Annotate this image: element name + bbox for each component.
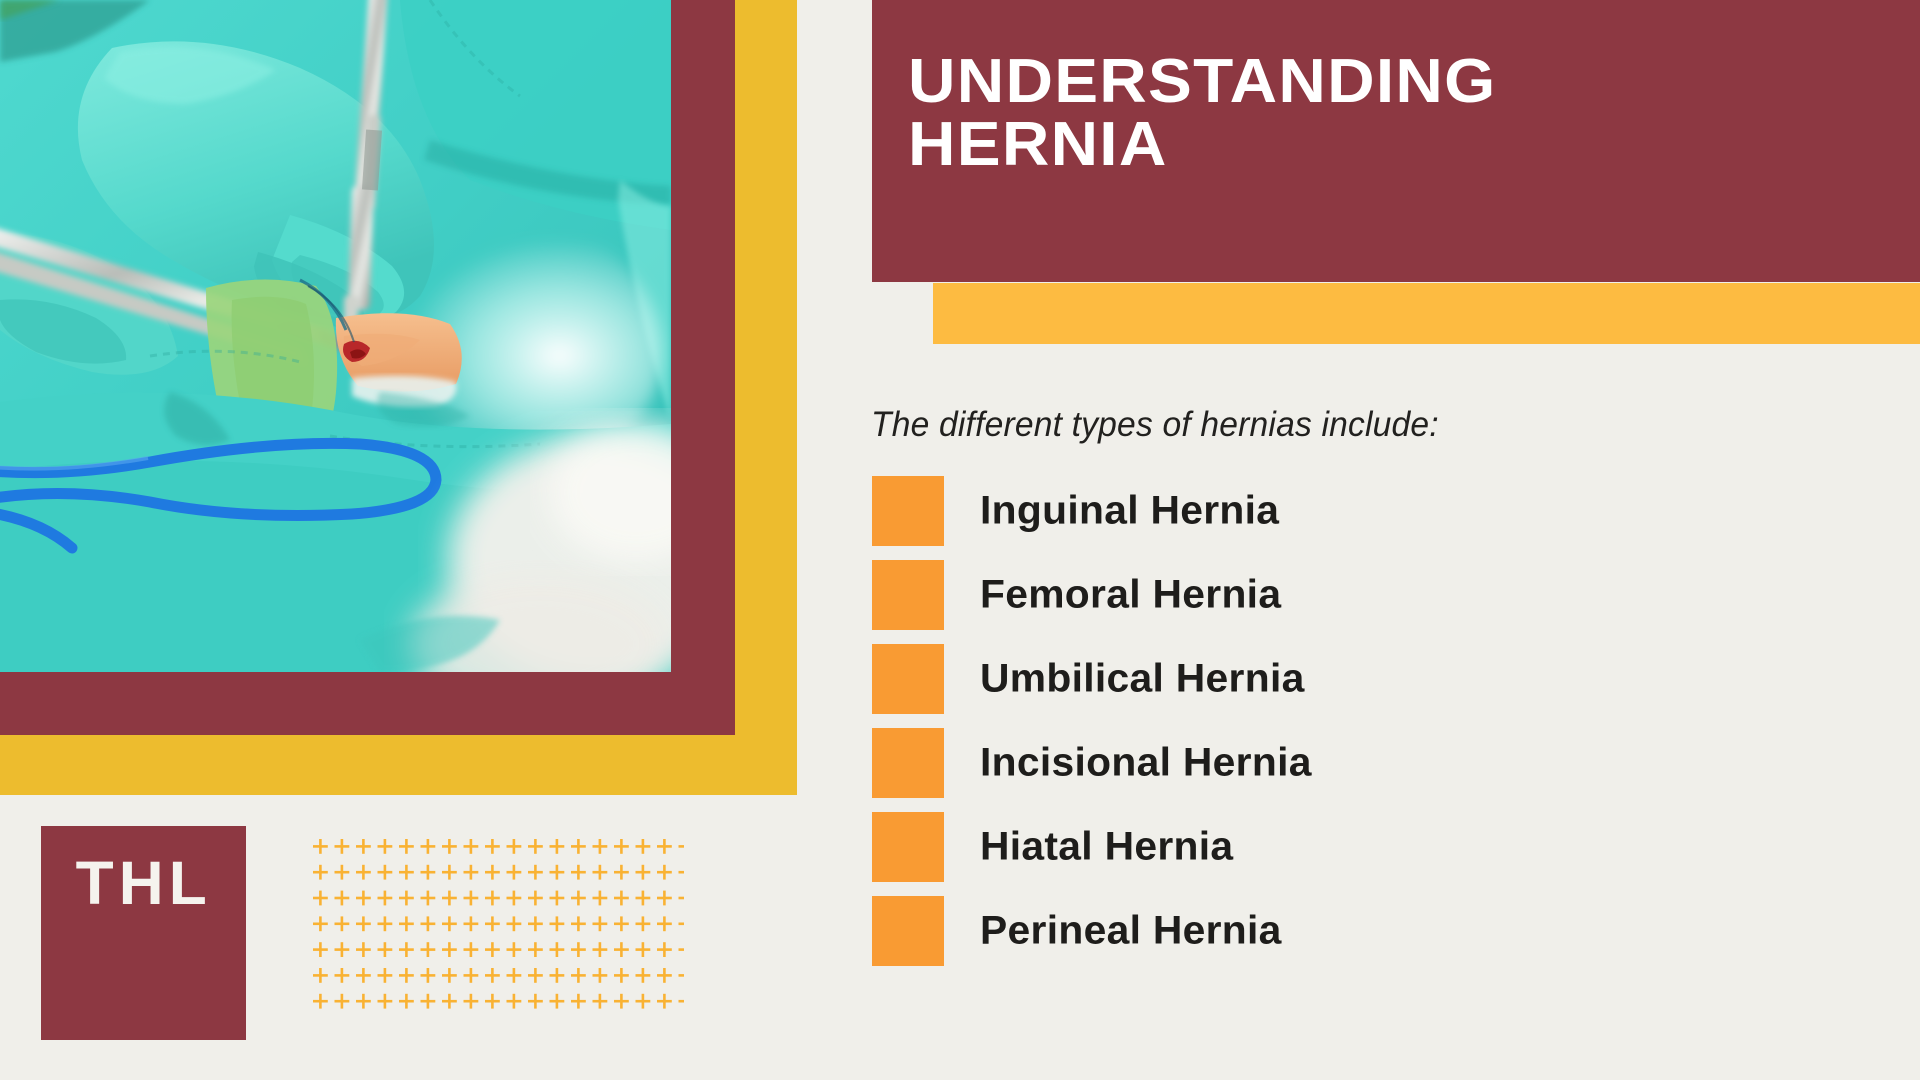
- plus-icon: [448, 891, 451, 906]
- plus-icon: [642, 865, 645, 880]
- plus-icon: [470, 994, 473, 1009]
- plus-icon: [556, 891, 559, 906]
- plus-icon: [577, 916, 580, 931]
- surgery-photo-illustration: [0, 0, 671, 672]
- hernia-list-item-label: Femoral Hernia: [980, 573, 1281, 618]
- plus-icon: [427, 942, 430, 957]
- bullet-square-icon: [872, 560, 944, 630]
- plus-icon: [491, 916, 494, 931]
- bullet-square-icon: [872, 644, 944, 714]
- hernia-list-item-label: Incisional Hernia: [980, 741, 1312, 786]
- plus-icon: [491, 839, 494, 854]
- hernia-list-item: Perineal Hernia: [872, 896, 1772, 966]
- plus-icon: [341, 968, 344, 983]
- plus-pattern-decoration: [312, 838, 684, 1010]
- plus-icon: [599, 916, 602, 931]
- bullet-square-icon: [872, 728, 944, 798]
- plus-icon: [405, 891, 408, 906]
- plus-icon: [679, 897, 685, 900]
- plus-icon: [620, 942, 623, 957]
- plus-icon: [663, 839, 666, 854]
- plus-icon: [491, 891, 494, 906]
- plus-icon: [341, 942, 344, 957]
- plus-icon: [577, 968, 580, 983]
- plus-icon: [384, 865, 387, 880]
- plus-icon: [663, 994, 666, 1009]
- plus-icon: [556, 942, 559, 957]
- hernia-types-list: Inguinal HerniaFemoral HerniaUmbilical H…: [872, 476, 1772, 980]
- plus-icon: [362, 942, 365, 957]
- plus-icon: [405, 942, 408, 957]
- bullet-square-icon: [872, 812, 944, 882]
- plus-icon: [556, 865, 559, 880]
- plus-icon: [491, 865, 494, 880]
- plus-icon: [405, 968, 408, 983]
- thl-logo: THL: [41, 826, 246, 1040]
- hernia-list-item-label: Umbilical Hernia: [980, 657, 1305, 702]
- plus-icon: [513, 968, 516, 983]
- plus-icon: [427, 891, 430, 906]
- plus-icon: [427, 968, 430, 983]
- hernia-list-item-label: Perineal Hernia: [980, 909, 1282, 954]
- plus-icon: [577, 942, 580, 957]
- infographic-canvas: THL UNDERSTANDING HERNIA The different t…: [0, 0, 1920, 1080]
- plus-icon: [448, 839, 451, 854]
- plus-icon: [663, 865, 666, 880]
- plus-icon: [679, 974, 685, 977]
- plus-icon: [556, 839, 559, 854]
- plus-icon: [534, 865, 537, 880]
- plus-icon: [384, 968, 387, 983]
- bullet-square-icon: [872, 896, 944, 966]
- plus-icon: [534, 839, 537, 854]
- plus-icon: [448, 942, 451, 957]
- plus-icon: [341, 891, 344, 906]
- plus-icon: [448, 865, 451, 880]
- plus-icon: [427, 865, 430, 880]
- plus-icon: [599, 891, 602, 906]
- plus-icon: [362, 968, 365, 983]
- plus-icon: [599, 942, 602, 957]
- plus-icon: [405, 994, 408, 1009]
- plus-icon: [427, 916, 430, 931]
- plus-icon: [513, 891, 516, 906]
- plus-icon: [599, 839, 602, 854]
- plus-icon: [679, 845, 685, 848]
- hernia-list-item: Inguinal Hernia: [872, 476, 1772, 546]
- plus-icon: [642, 839, 645, 854]
- plus-icon: [577, 994, 580, 1009]
- plus-icon: [599, 968, 602, 983]
- plus-icon: [642, 994, 645, 1009]
- plus-icon: [513, 942, 516, 957]
- plus-icon: [620, 968, 623, 983]
- plus-icon: [470, 865, 473, 880]
- plus-icon: [491, 994, 494, 1009]
- plus-icon: [491, 942, 494, 957]
- hernia-list-item: Femoral Hernia: [872, 560, 1772, 630]
- plus-icon: [513, 994, 516, 1009]
- plus-icon: [663, 968, 666, 983]
- plus-icon: [642, 891, 645, 906]
- plus-icon: [341, 916, 344, 931]
- hernia-list-item: Hiatal Hernia: [872, 812, 1772, 882]
- plus-icon: [642, 916, 645, 931]
- plus-icon: [341, 994, 344, 1009]
- plus-icon: [620, 916, 623, 931]
- plus-icon: [362, 839, 365, 854]
- plus-icon: [319, 865, 322, 880]
- plus-icon: [384, 942, 387, 957]
- plus-icon: [642, 942, 645, 957]
- surgery-photo: [0, 0, 671, 672]
- plus-icon: [556, 968, 559, 983]
- plus-icon: [427, 839, 430, 854]
- plus-icon: [513, 865, 516, 880]
- plus-icon: [491, 968, 494, 983]
- plus-icon: [534, 942, 537, 957]
- plus-icon: [620, 994, 623, 1009]
- logo-text: THL: [75, 853, 211, 914]
- plus-icon: [599, 865, 602, 880]
- plus-icon: [534, 891, 537, 906]
- plus-icon: [362, 865, 365, 880]
- plus-icon: [470, 839, 473, 854]
- plus-icon: [577, 865, 580, 880]
- hernia-list-item: Umbilical Hernia: [872, 644, 1772, 714]
- intro-text: The different types of hernias include:: [871, 405, 1439, 445]
- plus-icon: [513, 839, 516, 854]
- plus-icon: [448, 968, 451, 983]
- bullet-square-icon: [872, 476, 944, 546]
- hernia-list-item: Incisional Hernia: [872, 728, 1772, 798]
- plus-icon: [513, 916, 516, 931]
- plus-icon: [534, 994, 537, 1009]
- plus-icon: [470, 968, 473, 983]
- plus-icon: [534, 968, 537, 983]
- plus-icon: [470, 891, 473, 906]
- plus-icon: [384, 839, 387, 854]
- title-accent-bar: [933, 283, 1920, 344]
- plus-icon: [679, 948, 685, 951]
- plus-icon: [319, 968, 322, 983]
- plus-icon: [663, 891, 666, 906]
- plus-icon: [319, 994, 322, 1009]
- plus-icon: [427, 994, 430, 1009]
- plus-icon: [470, 916, 473, 931]
- plus-icon: [599, 994, 602, 1009]
- plus-icon: [362, 994, 365, 1009]
- plus-icon: [679, 1000, 685, 1003]
- plus-icon: [341, 839, 344, 854]
- plus-icon: [577, 839, 580, 854]
- plus-icon: [384, 916, 387, 931]
- plus-icon: [663, 916, 666, 931]
- plus-icon: [620, 891, 623, 906]
- plus-icon: [384, 891, 387, 906]
- hernia-list-item-label: Inguinal Hernia: [980, 489, 1279, 534]
- plus-icon: [679, 871, 685, 874]
- plus-icon: [642, 968, 645, 983]
- page-title: UNDERSTANDING HERNIA: [908, 50, 1497, 176]
- plus-icon: [470, 942, 473, 957]
- plus-icon: [362, 891, 365, 906]
- plus-icon: [319, 942, 322, 957]
- plus-icon: [319, 891, 322, 906]
- plus-icon: [384, 994, 387, 1009]
- plus-icon: [319, 839, 322, 854]
- plus-icon: [405, 839, 408, 854]
- plus-icon: [577, 891, 580, 906]
- plus-icon: [319, 916, 322, 931]
- plus-icon: [556, 994, 559, 1009]
- plus-icon: [663, 942, 666, 957]
- plus-icon: [534, 916, 537, 931]
- title-banner: UNDERSTANDING HERNIA: [872, 0, 1920, 282]
- plus-icon: [405, 916, 408, 931]
- plus-icon: [448, 916, 451, 931]
- plus-icon: [620, 839, 623, 854]
- hernia-list-item-label: Hiatal Hernia: [980, 825, 1233, 870]
- plus-icon: [556, 916, 559, 931]
- plus-icon: [341, 865, 344, 880]
- plus-icon: [405, 865, 408, 880]
- plus-icon: [620, 865, 623, 880]
- plus-icon: [679, 923, 685, 926]
- plus-icon: [448, 994, 451, 1009]
- plus-icon: [362, 916, 365, 931]
